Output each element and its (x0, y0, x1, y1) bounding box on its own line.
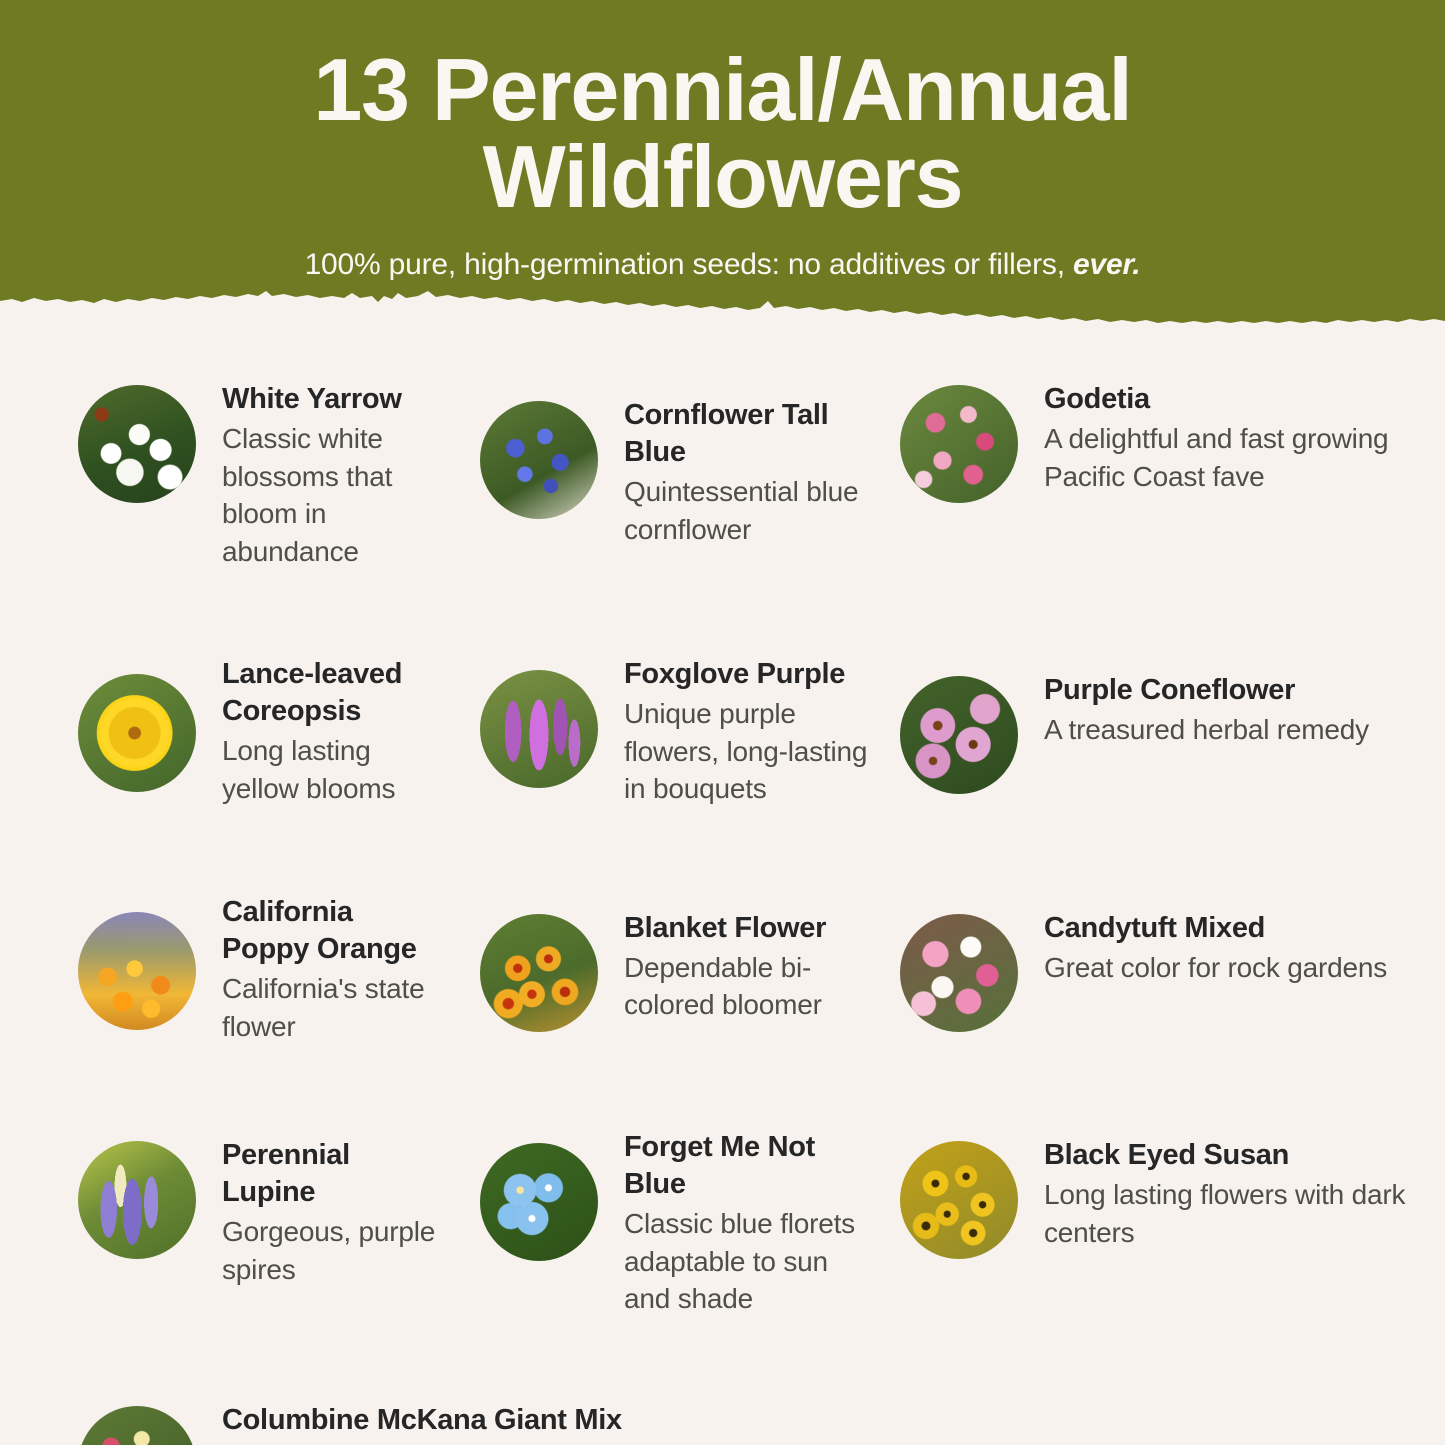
flower-description: A delightful and fast growing Pacific Co… (1044, 420, 1445, 495)
page-title: 13 Perennial/Annual Wildflowers (0, 46, 1445, 220)
flower-description: Classic blue florets adaptable to sun an… (624, 1205, 880, 1318)
flower-description: A treasured herbal remedy (1044, 711, 1369, 749)
flower-text: Lance-leaved Coreopsis Long lasting yell… (196, 654, 440, 807)
flower-name: Lance-leaved Coreopsis (222, 656, 440, 730)
page-title-line2: Wildflowers (483, 127, 963, 226)
flower-item-candytuft-mixed[interactable]: Candytuft Mixed Great color for rock gar… (880, 908, 1445, 1045)
flower-text: Purple Coneflower A treasured herbal rem… (1018, 670, 1369, 749)
flower-description: Quintessential blue cornflower (624, 473, 880, 548)
perennial-lupine-thumbnail-icon (78, 1141, 196, 1259)
flower-item-godetia[interactable]: Godetia A delightful and fast growing Pa… (880, 379, 1445, 570)
flower-item-california-poppy-orange[interactable]: California Poppy Orange California's sta… (0, 892, 440, 1045)
flower-name: Perennial Lupine (222, 1137, 440, 1211)
flower-item-purple-coneflower[interactable]: Purple Coneflower A treasured herbal rem… (880, 670, 1445, 808)
flower-name: Columbine McKana Giant Mix (222, 1402, 629, 1439)
blanket-flower-thumbnail-icon (480, 914, 598, 1032)
flower-text: Columbine McKana Giant Mix Whimsical mix… (196, 1400, 629, 1445)
flower-name: California Poppy Orange (222, 894, 440, 968)
flower-name: Cornflower Tall Blue (624, 397, 880, 471)
page-subtitle-main: 100% pure, high-germination seeds: no ad… (305, 248, 1073, 281)
flower-description: Classic white blossoms that bloom in abu… (222, 420, 440, 570)
flower-item-black-eyed-susan[interactable]: Black Eyed Susan Long lasting flowers wi… (880, 1135, 1445, 1318)
flower-item-forget-me-not-blue[interactable]: Forget Me Not Blue Classic blue florets … (440, 1127, 880, 1318)
flower-row: Columbine McKana Giant Mix Whimsical mix… (0, 1400, 1445, 1445)
flower-name: Foxglove Purple (624, 656, 880, 693)
flower-name: Godetia (1044, 381, 1445, 418)
wildflower-seed-infographic: 13 Perennial/Annual Wildflowers 100% pur… (0, 0, 1445, 1445)
flower-name: White Yarrow (222, 381, 440, 418)
page-title-line1: 13 Perennial/Annual (313, 40, 1131, 139)
flower-name: Candytuft Mixed (1044, 910, 1387, 947)
flower-row: Lance-leaved Coreopsis Long lasting yell… (0, 654, 1445, 808)
flower-text: Candytuft Mixed Great color for rock gar… (1018, 908, 1387, 987)
flower-text: White Yarrow Classic white blossoms that… (196, 379, 440, 570)
flower-item-cornflower-tall-blue[interactable]: Cornflower Tall Blue Quintessential blue… (440, 395, 880, 570)
forget-me-not-blue-thumbnail-icon (480, 1143, 598, 1261)
page-subtitle-emphasis: ever. (1073, 248, 1140, 281)
flower-text: Cornflower Tall Blue Quintessential blue… (598, 395, 880, 548)
flower-name: Purple Coneflower (1044, 672, 1369, 709)
flower-item-blanket-flower[interactable]: Blanket Flower Dependable bi-colored blo… (440, 908, 880, 1045)
flower-item-perennial-lupine[interactable]: Perennial Lupine Gorgeous, purple spires (0, 1135, 440, 1318)
flower-item-columbine-mckana-giant-mix[interactable]: Columbine McKana Giant Mix Whimsical mix… (0, 1400, 1000, 1445)
purple-coneflower-thumbnail-icon (900, 676, 1018, 794)
white-yarrow-thumbnail-icon (78, 385, 196, 503)
black-eyed-susan-thumbnail-icon (900, 1141, 1018, 1259)
header-banner: 13 Perennial/Annual Wildflowers 100% pur… (0, 0, 1445, 325)
flower-text: Black Eyed Susan Long lasting flowers wi… (1018, 1135, 1445, 1251)
page-subtitle: 100% pure, high-germination seeds: no ad… (0, 248, 1445, 282)
header-content: 13 Perennial/Annual Wildflowers 100% pur… (0, 0, 1445, 282)
columbine-mckana-giant-mix-thumbnail-icon (78, 1406, 196, 1445)
flower-name: Black Eyed Susan (1044, 1137, 1445, 1174)
cornflower-tall-blue-thumbnail-icon (480, 401, 598, 519)
flower-description: Great color for rock gardens (1044, 949, 1387, 987)
flower-description: Long lasting yellow blooms (222, 732, 440, 807)
flower-text: Foxglove Purple Unique purple flowers, l… (598, 654, 880, 808)
torn-paper-edge (0, 279, 1445, 325)
flower-item-white-yarrow[interactable]: White Yarrow Classic white blossoms that… (0, 379, 440, 570)
flower-text: Blanket Flower Dependable bi-colored blo… (598, 908, 880, 1024)
lance-leaved-coreopsis-thumbnail-icon (78, 674, 196, 792)
flower-name: Blanket Flower (624, 910, 880, 947)
flower-list: White Yarrow Classic white blossoms that… (0, 325, 1445, 1445)
flower-description: Unique purple flowers, long-lasting in b… (624, 695, 880, 808)
godetia-thumbnail-icon (900, 385, 1018, 503)
flower-text: Forget Me Not Blue Classic blue florets … (598, 1127, 880, 1318)
flower-text: California Poppy Orange California's sta… (196, 892, 440, 1045)
flower-description: Gorgeous, purple spires (222, 1213, 440, 1288)
flower-name: Forget Me Not Blue (624, 1129, 880, 1203)
flower-item-lance-leaved-coreopsis[interactable]: Lance-leaved Coreopsis Long lasting yell… (0, 654, 440, 808)
flower-text: Godetia A delightful and fast growing Pa… (1018, 379, 1445, 495)
flower-row: Perennial Lupine Gorgeous, purple spires… (0, 1127, 1445, 1318)
california-poppy-orange-thumbnail-icon (78, 912, 196, 1030)
flower-description: Long lasting flowers with dark centers (1044, 1176, 1445, 1251)
flower-description: California's state flower (222, 970, 440, 1045)
flower-text: Perennial Lupine Gorgeous, purple spires (196, 1135, 440, 1288)
flower-row: White Yarrow Classic white blossoms that… (0, 379, 1445, 570)
candytuft-mixed-thumbnail-icon (900, 914, 1018, 1032)
flower-row: California Poppy Orange California's sta… (0, 892, 1445, 1045)
flower-description: Whimsical mix attracts pollinators (222, 1441, 629, 1445)
flower-item-foxglove-purple[interactable]: Foxglove Purple Unique purple flowers, l… (440, 654, 880, 808)
flower-description: Dependable bi-colored bloomer (624, 949, 880, 1024)
foxglove-purple-thumbnail-icon (480, 670, 598, 788)
